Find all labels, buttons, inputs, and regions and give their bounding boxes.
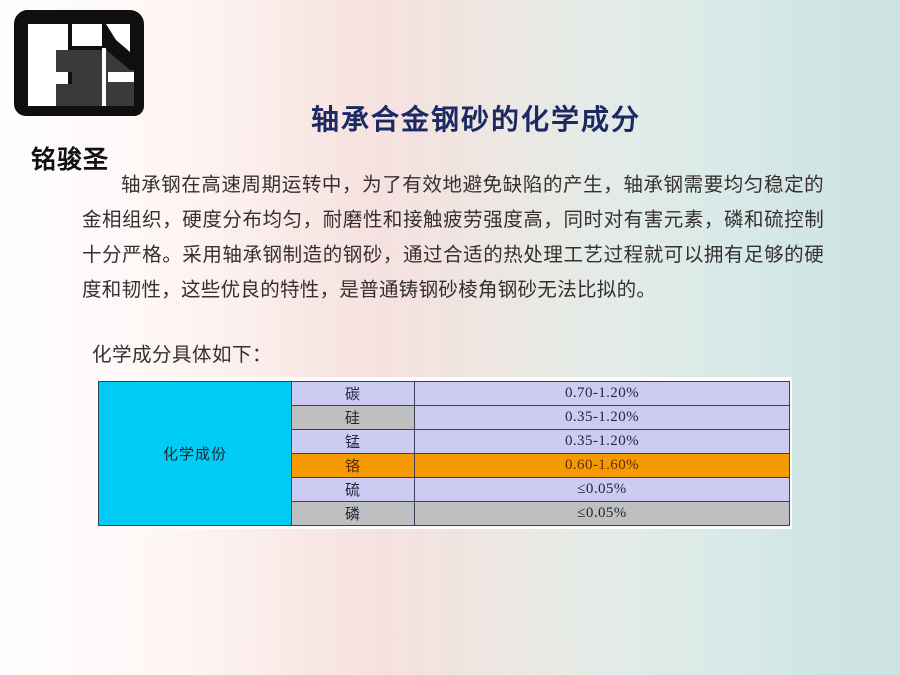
table-cell-value: 0.70-1.20% <box>415 382 790 406</box>
table-cell-element: 锰 <box>292 430 415 454</box>
table-lead-in-label: 化学成分具体如下： <box>92 338 272 367</box>
table-cell-element: 硫 <box>292 478 415 502</box>
table-row-label-cell: 化学成份 <box>99 382 292 526</box>
table-cell-element: 硅 <box>292 406 415 430</box>
slide-canvas: 铭骏圣 轴承合金钢砂的化学成分 轴承钢在高速周期运转中，为了有效地避免缺陷的产生… <box>0 0 900 675</box>
table-cell-element: 碳 <box>292 382 415 406</box>
table-cell-element: 磷 <box>292 502 415 526</box>
body-paragraph: 轴承钢在高速周期运转中，为了有效地避免缺陷的产生，轴承钢需要均匀稳定的金相组织，… <box>82 168 824 308</box>
brand-logo-block: 铭骏圣 <box>8 8 158 168</box>
page-title: 轴承合金钢砂的化学成分 <box>0 98 900 138</box>
table-row: 化学成份碳0.70-1.20% <box>99 382 790 406</box>
table-cell-value: 0.60-1.60% <box>415 454 790 478</box>
table-cell-element: 铬 <box>292 454 415 478</box>
chemical-composition-table: 化学成份碳0.70-1.20%硅0.35-1.20%锰0.35-1.20%铬0.… <box>98 381 790 526</box>
chemical-composition-table-frame: 化学成份碳0.70-1.20%硅0.35-1.20%锰0.35-1.20%铬0.… <box>94 377 792 529</box>
table-cell-value: ≤0.05% <box>415 502 790 526</box>
table-cell-value: 0.35-1.20% <box>415 406 790 430</box>
table-cell-value: ≤0.05% <box>415 478 790 502</box>
table-cell-value: 0.35-1.20% <box>415 430 790 454</box>
